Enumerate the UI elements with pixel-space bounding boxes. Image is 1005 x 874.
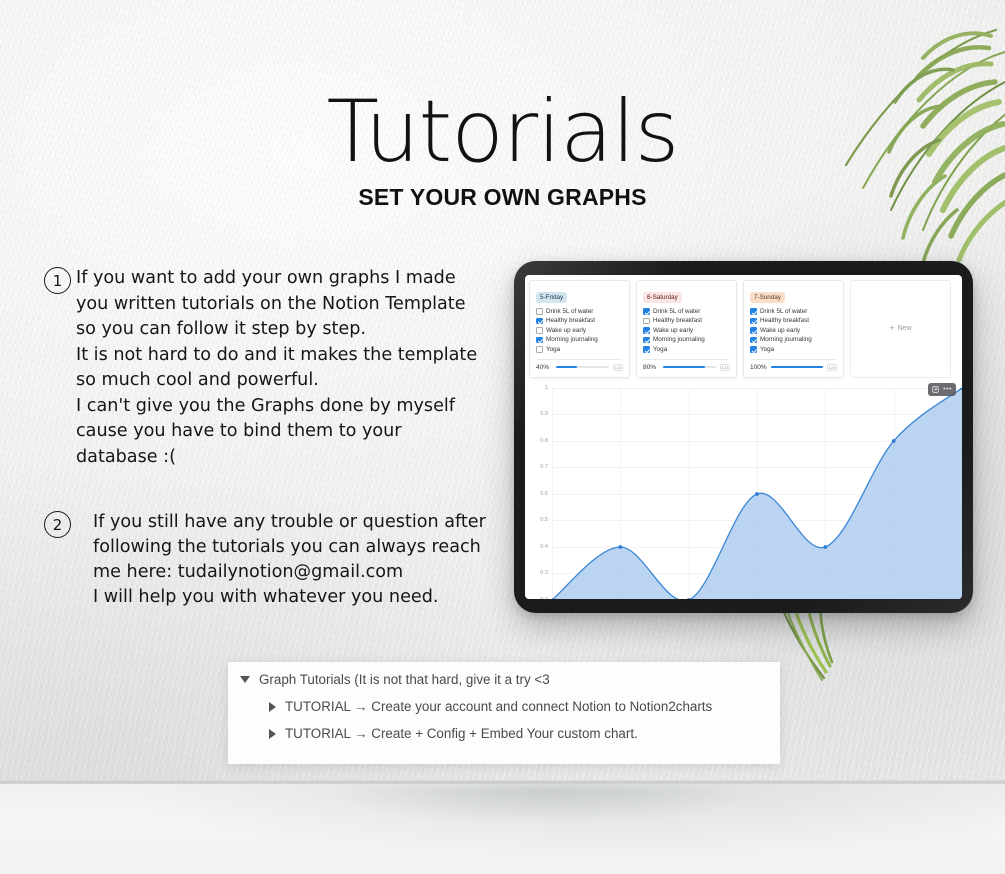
checkbox-unchecked-icon[interactable]: [643, 318, 650, 325]
chart-data-point[interactable]: [618, 545, 622, 549]
new-card-placeholder[interactable]: +New: [850, 280, 951, 378]
toggle-row[interactable]: Graph Tutorials (It is not that hard, gi…: [228, 662, 780, 687]
task-label: Drink 5L of water: [546, 308, 593, 316]
toggle-row-label: TUTORIAL → Create + Config + Embed Your …: [285, 726, 638, 741]
progress-percent-label: 80%: [643, 364, 659, 371]
task-label: Morning journaling: [760, 336, 812, 344]
add-new-label: New: [898, 325, 912, 332]
chart-data-point[interactable]: [892, 439, 896, 443]
chart-y-tick-label: 0.6: [540, 491, 552, 497]
task-row[interactable]: Morning journaling: [643, 336, 730, 344]
task-label: Wake up early: [760, 327, 800, 335]
card-divider: [537, 359, 622, 360]
step-2-text: If you still have any trouble or questio…: [93, 510, 486, 610]
chart-series-svg: [552, 388, 962, 600]
progress-bar-fill: [663, 366, 705, 368]
chart-data-point[interactable]: [755, 492, 759, 496]
checkbox-checked-icon[interactable]: [750, 327, 757, 334]
chart-y-tick-label: 0.4: [540, 544, 552, 550]
triangle-right-icon[interactable]: [269, 729, 276, 739]
checkbox-checked-icon[interactable]: [750, 308, 757, 315]
task-row[interactable]: Drink 5L of water: [536, 308, 623, 316]
chart-menu-icon[interactable]: •••: [943, 386, 952, 393]
progress-percent-label: 40%: [536, 364, 552, 371]
checkbox-unchecked-icon[interactable]: [536, 308, 543, 315]
task-label: Wake up early: [653, 327, 693, 335]
chart-y-tick-label: 0.5: [540, 517, 552, 523]
chart-y-tick-label: 0.7: [540, 464, 552, 470]
habit-card[interactable]: 6-SaturdayDrink 5L of waterHealthy break…: [636, 280, 737, 378]
task-label: Morning journaling: [546, 336, 598, 344]
chart-y-tick-label: 0.8: [540, 438, 552, 444]
chart-y-tick-label: 0.2: [540, 597, 552, 600]
progress-bar: [771, 366, 823, 368]
task-row[interactable]: Drink 5L of water: [750, 308, 837, 316]
task-label: Yoga: [760, 346, 774, 354]
task-label: Healthy breakfast: [546, 317, 595, 325]
tutorial-toggle-panel: Graph Tutorials (It is not that hard, gi…: [228, 662, 780, 764]
toggle-row[interactable]: TUTORIAL → Create + Config + Embed Your …: [228, 714, 780, 741]
progress-row: 80%123: [643, 364, 730, 371]
checkbox-checked-icon[interactable]: [536, 337, 543, 344]
expand-icon[interactable]: [932, 386, 939, 393]
habit-card[interactable]: 7-SundayDrink 5L of waterHealthy breakfa…: [743, 280, 844, 378]
checkbox-checked-icon[interactable]: [536, 318, 543, 325]
card-divider: [751, 359, 836, 360]
task-row[interactable]: Wake up early: [750, 327, 837, 335]
progress-row: 40%123: [536, 364, 623, 371]
progress-bar-fill: [771, 366, 823, 368]
task-row[interactable]: Healthy breakfast: [536, 317, 623, 325]
step-2-number-badge: 2: [44, 511, 71, 538]
triangle-right-icon[interactable]: [269, 702, 276, 712]
day-badge: 7-Sunday: [750, 292, 785, 303]
progress-bar: [663, 366, 716, 368]
tablet-device: 5-FridayDrink 5L of waterHealthy breakfa…: [514, 261, 973, 613]
chart-y-tick-label: 0.9: [540, 411, 552, 417]
task-row[interactable]: Yoga: [643, 346, 730, 354]
step-1-number-badge: 1: [44, 267, 71, 294]
floor-shadow: [330, 786, 850, 848]
task-row[interactable]: Healthy breakfast: [750, 317, 837, 325]
checkbox-checked-icon[interactable]: [643, 346, 650, 353]
day-badge: 6-Saturday: [643, 292, 682, 303]
triangle-down-icon[interactable]: [240, 676, 250, 683]
task-row[interactable]: Yoga: [536, 346, 623, 354]
page-subtitle: SET YOUR OWN GRAPHS: [0, 184, 1005, 211]
task-row[interactable]: Yoga: [750, 346, 837, 354]
task-label: Healthy breakfast: [760, 317, 809, 325]
habit-card-row: 5-FridayDrink 5L of waterHealthy breakfa…: [525, 275, 962, 378]
checkbox-unchecked-icon[interactable]: [536, 327, 543, 334]
progress-bar: [556, 366, 609, 368]
task-label: Drink 5L of water: [653, 308, 700, 316]
number-format-chip[interactable]: 123: [827, 364, 837, 371]
toggle-row-label: TUTORIAL → Create your account and conne…: [285, 699, 712, 714]
page-title: Tutorials: [0, 86, 1005, 178]
task-row[interactable]: Drink 5L of water: [643, 308, 730, 316]
checkbox-checked-icon[interactable]: [750, 346, 757, 353]
progress-bar-fill: [556, 366, 577, 368]
poster-canvas: Tutorials SET YOUR OWN GRAPHS 1 If you w…: [0, 0, 1005, 874]
chart-toolbar[interactable]: •••: [928, 383, 956, 396]
task-label: Healthy breakfast: [653, 317, 702, 325]
habit-card[interactable]: 5-FridayDrink 5L of waterHealthy breakfa…: [529, 280, 630, 378]
task-row[interactable]: Morning journaling: [536, 336, 623, 344]
checkbox-checked-icon[interactable]: [643, 308, 650, 315]
chart-inner: ••• 10.90.80.70.60.50.40.30.2: [525, 382, 962, 600]
task-label: Yoga: [653, 346, 667, 354]
progress-row: 100%123: [750, 364, 837, 371]
step-2: 2 If you still have any trouble or quest…: [44, 510, 514, 610]
chart-data-point[interactable]: [687, 598, 691, 599]
progress-percent-label: 100%: [750, 364, 767, 371]
chart-plot-area: 10.90.80.70.60.50.40.30.2: [552, 388, 962, 600]
checkbox-unchecked-icon[interactable]: [536, 346, 543, 353]
chart-container: ••• 10.90.80.70.60.50.40.30.2: [525, 382, 962, 600]
number-format-chip[interactable]: 123: [613, 364, 623, 371]
chart-y-tick-label: 1: [545, 385, 552, 391]
chart-y-tick-label: 0.3: [540, 570, 552, 576]
step-1-text: If you want to add your own graphs I mad…: [76, 266, 477, 470]
day-badge: 5-Friday: [536, 292, 567, 303]
task-row[interactable]: Wake up early: [643, 327, 730, 335]
task-label: Yoga: [546, 346, 560, 354]
page-title-block: Tutorials SET YOUR OWN GRAPHS: [0, 86, 1005, 211]
checkbox-checked-icon[interactable]: [643, 327, 650, 334]
chart-data-point[interactable]: [823, 545, 827, 549]
checkbox-checked-icon[interactable]: [750, 337, 757, 344]
task-row[interactable]: Morning journaling: [750, 336, 837, 344]
task-label: Wake up early: [546, 327, 586, 335]
task-row[interactable]: Wake up early: [536, 327, 623, 335]
toggle-row[interactable]: TUTORIAL → Create your account and conne…: [228, 687, 780, 714]
step-1: 1 If you want to add your own graphs I m…: [44, 266, 514, 470]
plus-icon: +: [889, 324, 894, 333]
add-new-button[interactable]: +New: [889, 324, 911, 333]
number-format-chip[interactable]: 123: [720, 364, 730, 371]
tablet-screen: 5-FridayDrink 5L of waterHealthy breakfa…: [525, 275, 962, 599]
checkbox-checked-icon[interactable]: [643, 337, 650, 344]
task-label: Drink 5L of water: [760, 308, 807, 316]
card-divider: [644, 359, 729, 360]
checkbox-checked-icon[interactable]: [750, 318, 757, 325]
task-row[interactable]: Healthy breakfast: [643, 317, 730, 325]
task-label: Morning journaling: [653, 336, 705, 344]
toggle-row-label: Graph Tutorials (It is not that hard, gi…: [259, 672, 550, 687]
